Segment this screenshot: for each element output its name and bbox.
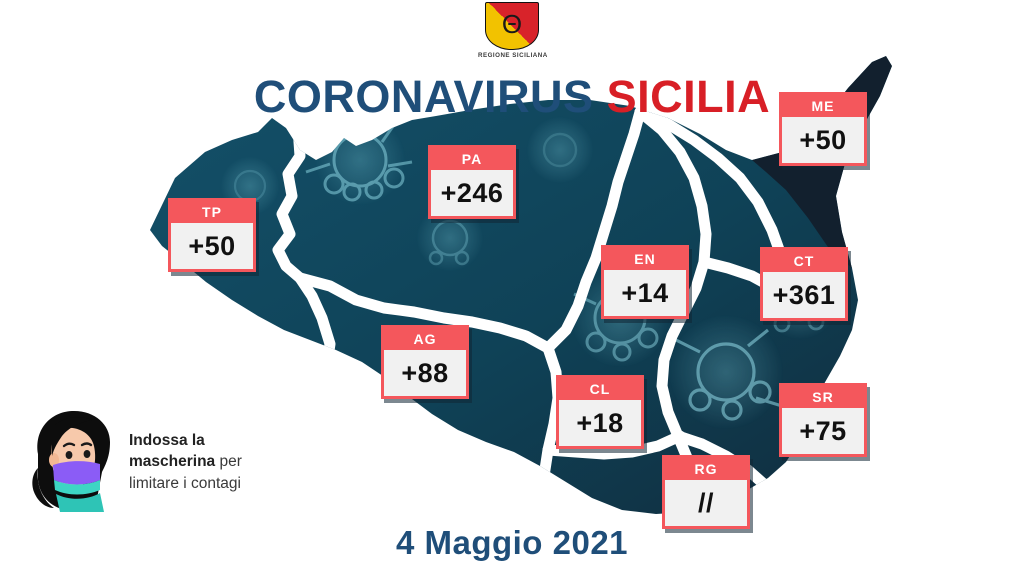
province-code-tp: TP (171, 201, 253, 223)
province-value-en: +14 (604, 270, 686, 316)
province-box-cl[interactable]: CL +18 (556, 375, 644, 449)
province-box-me[interactable]: ME +50 (779, 92, 867, 166)
province-value-sr: +75 (782, 408, 864, 454)
province-value-ct: +361 (763, 272, 845, 318)
mask-advisory-line1: Indossa la (129, 432, 205, 449)
province-code-pa: PA (431, 148, 513, 170)
mask-advisory-line2-bold: mascherina (129, 453, 215, 470)
province-box-ag[interactable]: AG +88 (381, 325, 469, 399)
masked-woman-icon (26, 408, 118, 512)
province-code-sr: SR (782, 386, 864, 408)
province-code-ct: CT (763, 250, 845, 272)
title-coronavirus: CORONAVIRUS (254, 71, 594, 122)
province-box-ct[interactable]: CT +361 (760, 247, 848, 321)
province-box-pa[interactable]: PA +246 (428, 145, 516, 219)
province-code-cl: CL (559, 378, 641, 400)
province-code-ag: AG (384, 328, 466, 350)
mask-advisory-line2-rest: per (215, 453, 242, 470)
province-value-me: +50 (782, 117, 864, 163)
province-code-rg: RG (665, 458, 747, 480)
date-label: 4 Maggio 2021 (0, 524, 1024, 562)
province-box-tp[interactable]: TP +50 (168, 198, 256, 272)
page-title: CORONAVIRUS SICILIA (0, 74, 1024, 119)
title-sicilia: SICILIA (607, 71, 771, 122)
mask-advisory: Indossa la mascherina per limitare i con… (26, 408, 286, 516)
mask-advisory-text: Indossa la mascherina per limitare i con… (129, 430, 289, 494)
province-code-me: ME (782, 95, 864, 117)
province-value-rg: // (665, 480, 747, 526)
province-value-ag: +88 (384, 350, 466, 396)
province-code-en: EN (604, 248, 686, 270)
province-box-sr[interactable]: SR +75 (779, 383, 867, 457)
province-value-tp: +50 (171, 223, 253, 269)
province-value-pa: +246 (431, 170, 513, 216)
mask-advisory-line3: limitare i contagi (129, 475, 241, 492)
province-box-rg[interactable]: RG // (662, 455, 750, 529)
province-value-cl: +18 (559, 400, 641, 446)
province-box-en[interactable]: EN +14 (601, 245, 689, 319)
